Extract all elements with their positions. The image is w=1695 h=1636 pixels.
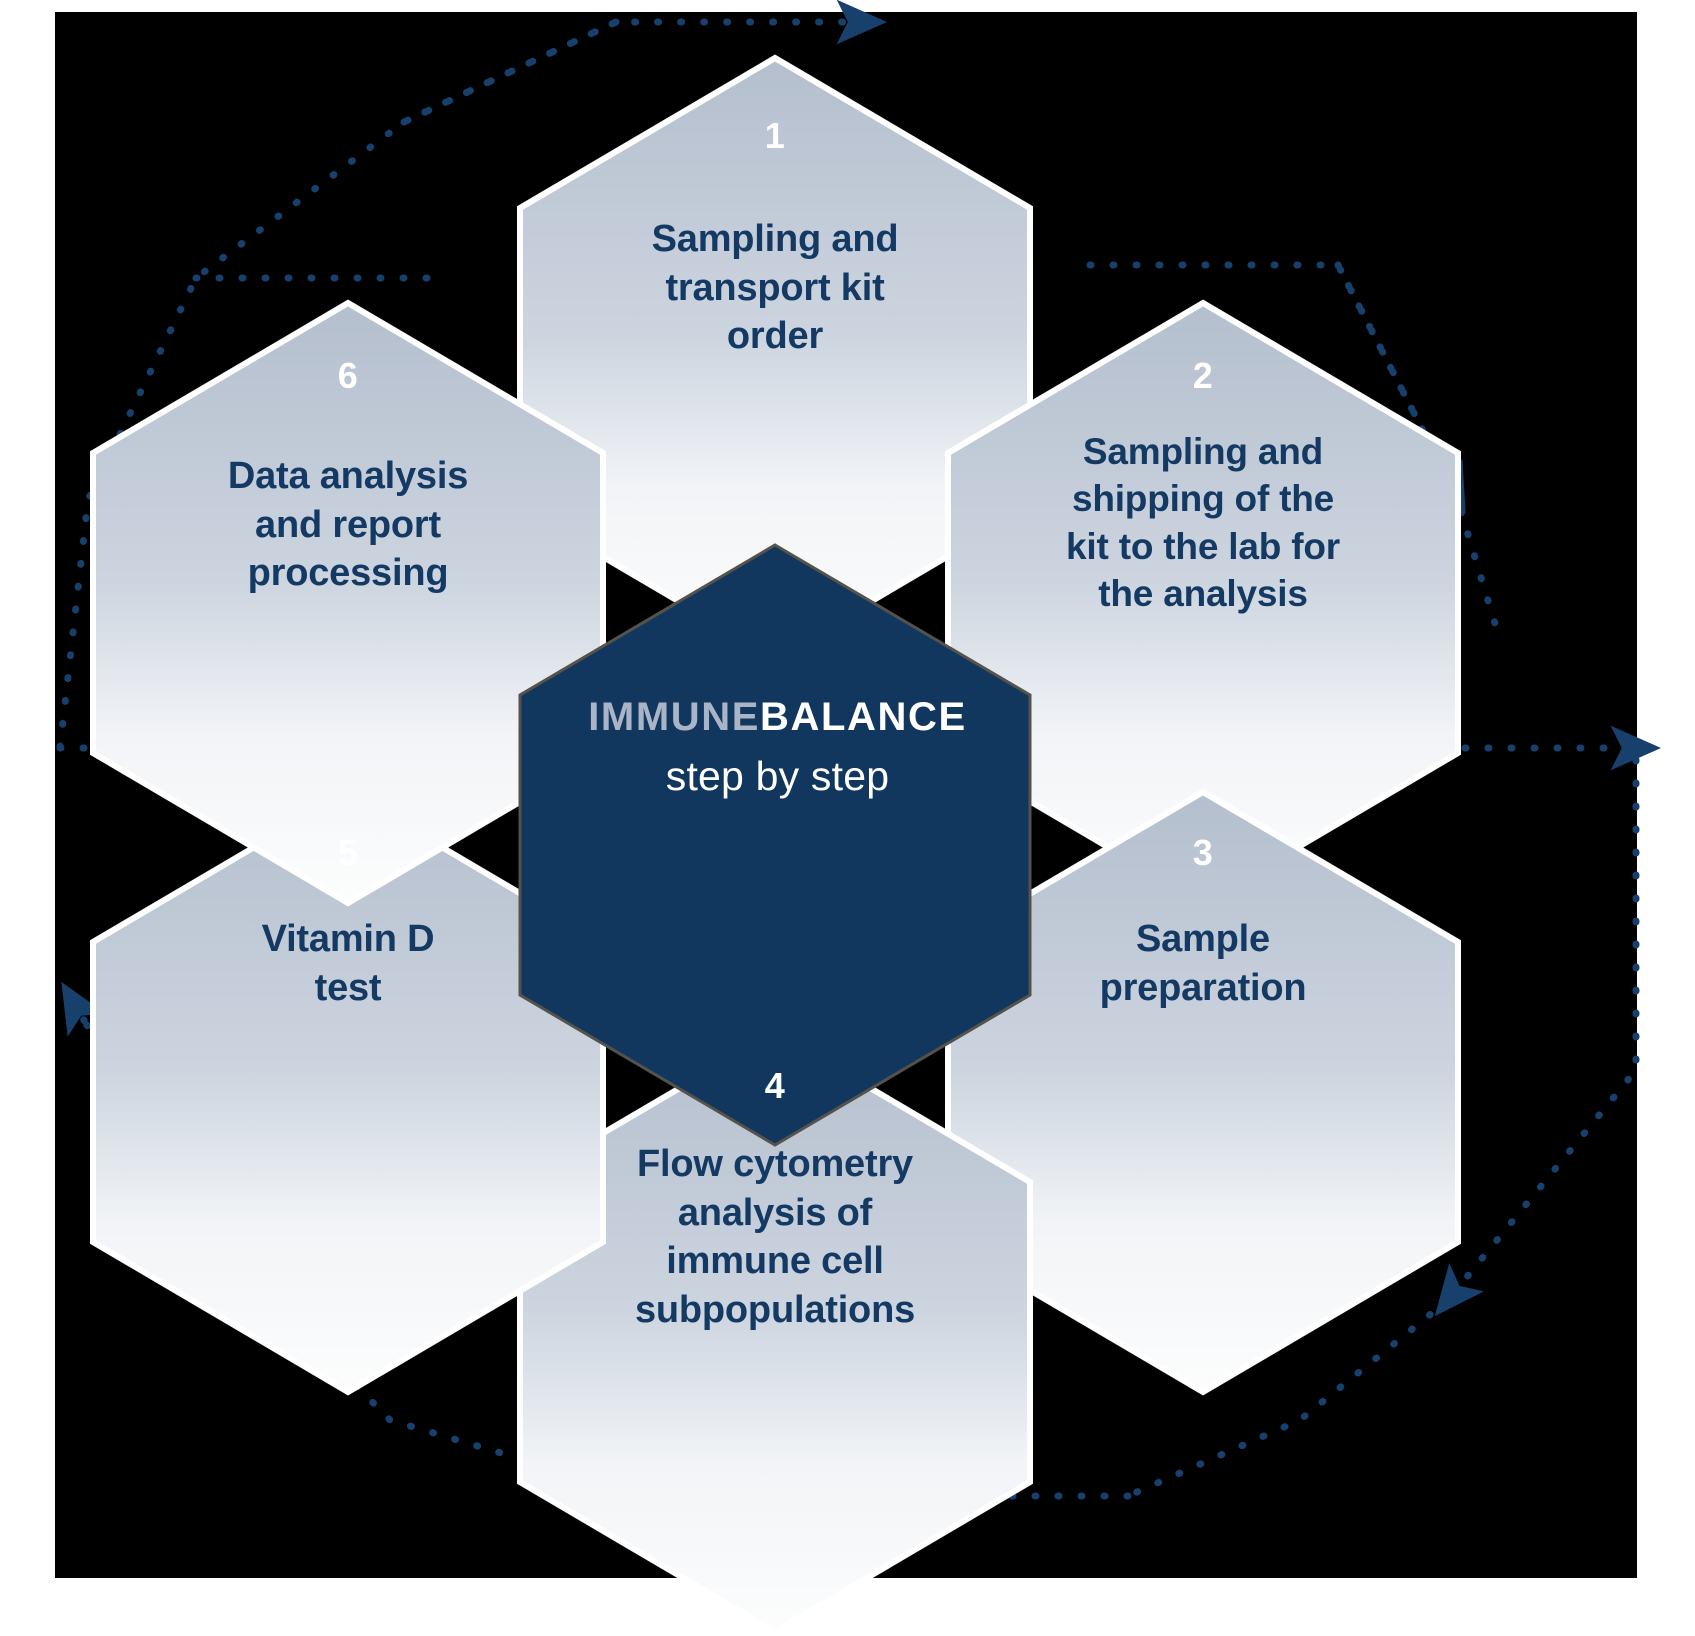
connector-step3-to-step4 <box>1448 760 1636 1300</box>
diagram-svg <box>0 0 1695 1636</box>
hexagon-flow-diagram: 1 Sampling and transport kit order 2 Sam… <box>0 0 1695 1636</box>
